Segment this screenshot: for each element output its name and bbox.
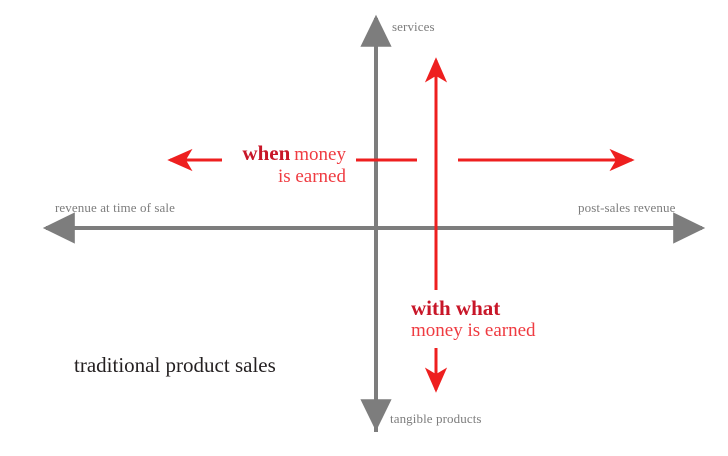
axis-label-tangible-products: tangible products (390, 412, 482, 427)
axis-label-services: services (392, 20, 435, 35)
annotation-with-what-second-line: money is earned (411, 320, 536, 342)
annotation-when-money-is-earned: when money is earned (222, 141, 346, 188)
annotation-with-what-money-is-earned: with what money is earned (411, 296, 536, 342)
diagram-title-traditional-product-sales: traditional product sales (74, 353, 276, 377)
annotation-when-second-line: is earned (222, 166, 346, 188)
annotation-when-rest: money (294, 144, 346, 165)
axis-label-revenue-at-time-of-sale: revenue at time of sale (55, 201, 175, 216)
diagram-canvas: services tangible products revenue at ti… (0, 0, 728, 456)
annotation-when-emphasis: when (242, 141, 290, 165)
axis-label-post-sales-revenue: post-sales revenue (578, 201, 675, 216)
axes-and-arrows-layer (0, 0, 728, 456)
annotation-with-what-emphasis: with what (411, 296, 536, 320)
